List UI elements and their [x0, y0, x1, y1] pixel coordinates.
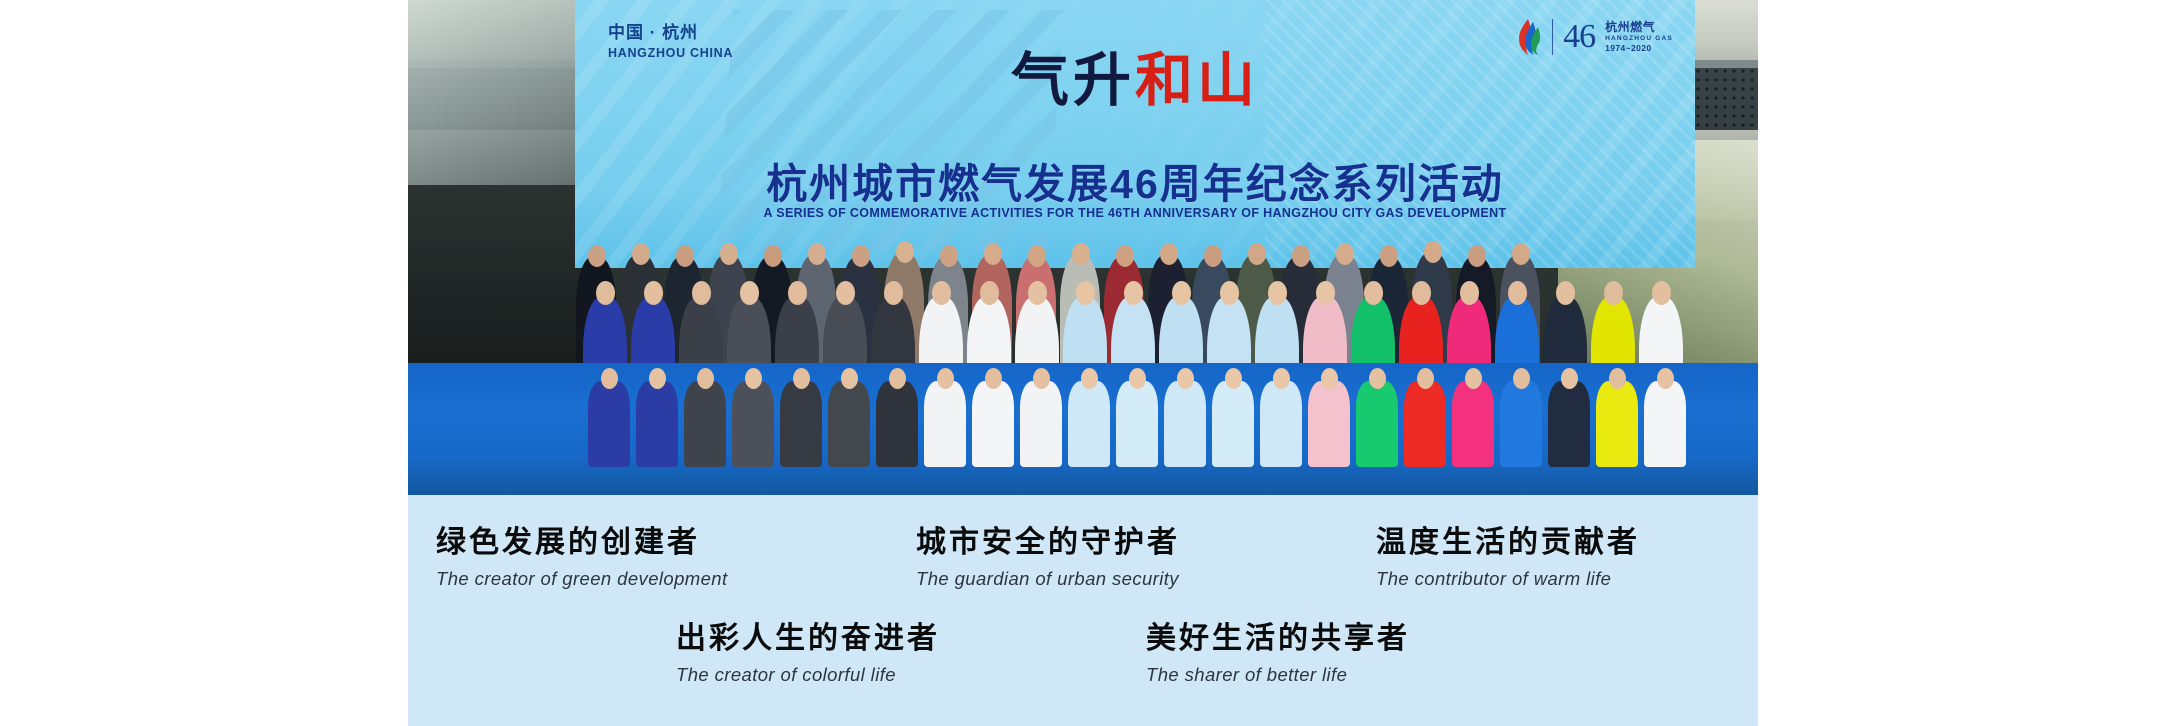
- person: [684, 381, 726, 467]
- person-head: [632, 243, 650, 265]
- person: [972, 381, 1014, 467]
- person-head: [697, 368, 714, 389]
- person-head: [1273, 368, 1290, 389]
- person-head: [1160, 243, 1178, 265]
- slogan-caption-band: 绿色发展的创建者 The creator of green developmen…: [408, 495, 1758, 726]
- person-head: [1561, 368, 1578, 389]
- person-head: [1417, 368, 1434, 389]
- brand-name-chinese: 杭州燃气: [1605, 20, 1673, 35]
- person-head: [676, 245, 694, 267]
- slogan-item-1: 绿色发展的创建者 The creator of green developmen…: [436, 517, 728, 590]
- person-head: [1412, 281, 1431, 305]
- person-head: [1556, 281, 1575, 305]
- person-head: [1609, 368, 1626, 389]
- person: [1452, 381, 1494, 467]
- person-head: [1652, 281, 1671, 305]
- person-head: [841, 368, 858, 389]
- person-head: [1220, 281, 1239, 305]
- event-group-photo: 中国 · 杭州 HANGZHOU CHINA 46 杭州燃气 HANGZHOU …: [408, 0, 1758, 495]
- person-head: [1129, 368, 1146, 389]
- brand-text-block: 杭州燃气 HANGZHOU GAS 1974~2020: [1605, 20, 1673, 54]
- person-head: [985, 368, 1002, 389]
- person-head: [596, 281, 615, 305]
- person: [924, 381, 966, 467]
- slogan-item-2: 城市安全的守护者 The guardian of urban security: [916, 517, 1180, 590]
- person-head: [1321, 368, 1338, 389]
- brand-name-english: HANGZHOU GAS: [1605, 35, 1673, 43]
- person-head: [588, 245, 606, 267]
- person-head: [1028, 281, 1047, 305]
- logotype-part-one: 气升: [1011, 48, 1135, 113]
- person-head: [793, 368, 810, 389]
- venue-glass-left: [408, 0, 588, 190]
- slogan-chinese: 美好生活的共享者: [1146, 613, 1410, 657]
- person-head: [740, 281, 759, 305]
- person-head: [980, 281, 999, 305]
- person-head: [1424, 241, 1442, 263]
- person: [732, 381, 774, 467]
- person-head: [1336, 243, 1354, 265]
- slogan-english: The contributor of warm life: [1376, 568, 1640, 590]
- person-head: [932, 281, 951, 305]
- person: [1596, 381, 1638, 467]
- person-head: [601, 368, 618, 389]
- person-head: [1292, 245, 1310, 267]
- person: [636, 381, 678, 467]
- person-head: [1268, 281, 1287, 305]
- person-head: [1172, 281, 1191, 305]
- person-head: [1465, 368, 1482, 389]
- person-head: [852, 245, 870, 267]
- brand-divider: [1552, 19, 1553, 55]
- person-head: [984, 243, 1002, 265]
- person: [1020, 381, 1062, 467]
- person-head: [1604, 281, 1623, 305]
- person: [1500, 381, 1542, 467]
- slogan-english: The creator of colorful life: [676, 664, 940, 686]
- person-head: [1072, 243, 1090, 265]
- logotype-part-two: 和山: [1135, 48, 1259, 113]
- person: [1164, 381, 1206, 467]
- slogan-item-3: 温度生活的贡献者 The contributor of warm life: [1376, 517, 1640, 590]
- person-head: [745, 368, 762, 389]
- slogan-item-5: 美好生活的共享者 The sharer of better life: [1146, 613, 1410, 686]
- person-head: [720, 243, 738, 265]
- person-head: [1076, 281, 1095, 305]
- person-head: [1513, 368, 1530, 389]
- person-head: [1081, 368, 1098, 389]
- person-head: [1028, 245, 1046, 267]
- person: [1260, 381, 1302, 467]
- person-head: [764, 245, 782, 267]
- person-head: [1508, 281, 1527, 305]
- person-head: [836, 281, 855, 305]
- person-head: [1369, 368, 1386, 389]
- person-head: [1225, 368, 1242, 389]
- article-content-column: 中国 · 杭州 HANGZHOU CHINA 46 杭州燃气 HANGZHOU …: [408, 0, 1758, 726]
- person-head: [1468, 245, 1486, 267]
- location-chinese: 中国 · 杭州: [608, 22, 733, 45]
- slogan-chinese: 出彩人生的奋进者: [676, 613, 940, 657]
- person-head: [788, 281, 807, 305]
- person: [588, 381, 630, 467]
- person-head: [808, 243, 826, 265]
- person-head: [1380, 245, 1398, 267]
- person-head: [649, 368, 666, 389]
- slogan-english: The guardian of urban security: [916, 568, 1180, 590]
- person: [1548, 381, 1590, 467]
- person-head: [1204, 245, 1222, 267]
- person-head: [1512, 243, 1530, 265]
- page-root: 中国 · 杭州 HANGZHOU CHINA 46 杭州燃气 HANGZHOU …: [0, 0, 2179, 726]
- slogan-chinese: 温度生活的贡献者: [1376, 517, 1640, 561]
- slogan-chinese: 绿色发展的创建者: [436, 517, 728, 561]
- person-head: [644, 281, 663, 305]
- person-head: [1316, 281, 1335, 305]
- person: [1116, 381, 1158, 467]
- brand-lockup: 46 杭州燃气 HANGZHOU GAS 1974~2020: [1516, 18, 1673, 56]
- person-head: [1033, 368, 1050, 389]
- person: [780, 381, 822, 467]
- person-head: [1248, 243, 1266, 265]
- person-head: [884, 281, 903, 305]
- person: [1356, 381, 1398, 467]
- person: [1308, 381, 1350, 467]
- person-head: [937, 368, 954, 389]
- person: [828, 381, 870, 467]
- person: [876, 381, 918, 467]
- person: [1404, 381, 1446, 467]
- anniversary-number: 46: [1563, 20, 1595, 54]
- person-head: [896, 241, 914, 263]
- person-head: [1116, 245, 1134, 267]
- slogan-english: The creator of green development: [436, 568, 728, 590]
- person-head: [1657, 368, 1674, 389]
- person: [1068, 381, 1110, 467]
- slogan-item-4: 出彩人生的奋进者 The creator of colorful life: [676, 613, 940, 686]
- slogan-chinese: 城市安全的守护者: [916, 517, 1180, 561]
- person: [1644, 381, 1686, 467]
- person-head: [1364, 281, 1383, 305]
- person-head: [1460, 281, 1479, 305]
- flame-icon: [1516, 18, 1542, 56]
- person-head: [940, 245, 958, 267]
- person-head: [692, 281, 711, 305]
- slogan-english: The sharer of better life: [1146, 664, 1410, 686]
- person-head: [1124, 281, 1143, 305]
- event-logotype: 气升和山: [575, 52, 1695, 110]
- person-head: [889, 368, 906, 389]
- person: [1212, 381, 1254, 467]
- group-photo-people: [408, 165, 1758, 495]
- person-head: [1177, 368, 1194, 389]
